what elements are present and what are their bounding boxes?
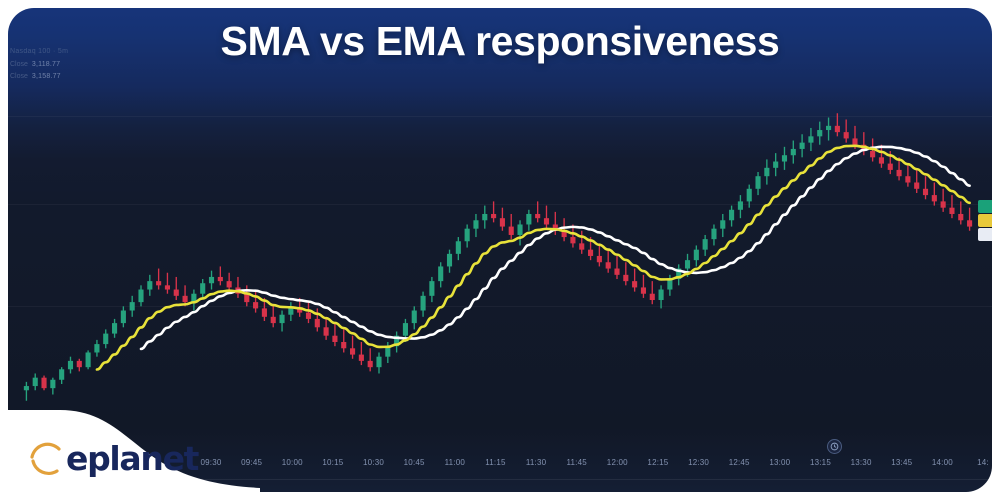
axis-tick: 11:30: [526, 458, 546, 467]
axis-tick: 09:30: [200, 458, 221, 467]
axis-tick: 13:15: [810, 458, 831, 467]
screenshot-root: { "title": "SMA vs EMA responsiveness", …: [0, 0, 1000, 500]
axis-tick: 11:00: [445, 458, 465, 467]
last-price-tag: [978, 200, 992, 213]
axis-tick: 12:15: [647, 458, 668, 467]
brand-name: eplanet: [66, 439, 198, 478]
axis-tick: 14:00: [932, 458, 953, 467]
axis-tick: 13:30: [851, 458, 872, 467]
eplanet-mark-icon: [26, 438, 66, 478]
clock-icon[interactable]: [827, 439, 842, 454]
axis-tick: 12:45: [729, 458, 750, 467]
axis-tick: 10:00: [282, 458, 303, 467]
axis-tick: 14:: [977, 458, 989, 467]
page-title: SMA vs EMA responsiveness: [0, 18, 1000, 65]
axis-tick: 10:45: [404, 458, 425, 467]
legend-row: Close 3,158.77: [10, 71, 68, 83]
sma-price-tag: [978, 228, 992, 241]
legend-value: 3,158.77: [32, 71, 61, 83]
axis-tick: 11:15: [485, 458, 505, 467]
axis-tick: 10:15: [322, 458, 343, 467]
sma-line: [141, 147, 970, 349]
axis-tick: 13:45: [891, 458, 912, 467]
price-tag-group: [978, 200, 992, 242]
axis-tick: 11:45: [566, 458, 586, 467]
axis-tick: 12:30: [688, 458, 709, 467]
axis-tick: 13:00: [769, 458, 790, 467]
axis-rule: [8, 479, 992, 480]
legend-key: Close: [10, 71, 28, 83]
candlestick-chart[interactable]: [8, 8, 992, 492]
axis-tick: 12:00: [607, 458, 628, 467]
chart-card: Nasdaq 100 · 5m Close 3,118.77 Close 3,1…: [8, 8, 992, 492]
ema-line: [97, 146, 970, 370]
axis-tick: 09:45: [241, 458, 262, 467]
axis-tick: 10:30: [363, 458, 384, 467]
candle-series: [24, 113, 972, 401]
brand-logo[interactable]: eplanet: [26, 438, 198, 478]
ema-price-tag: [978, 214, 992, 227]
